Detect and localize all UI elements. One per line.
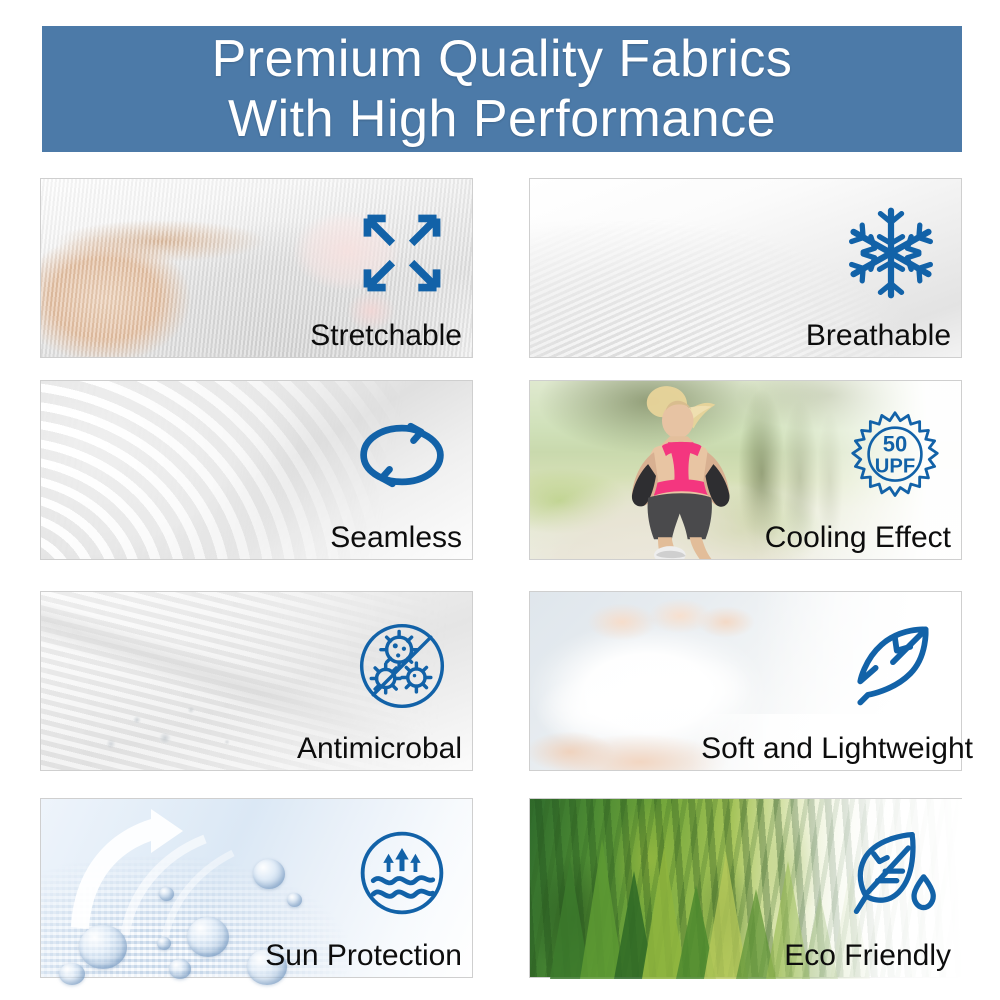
upf-badge-unit: UPF: [875, 456, 915, 478]
feature-card-antimicrobal[interactable]: Antimicrobal: [40, 591, 473, 771]
feature-label-breathable: Breathable: [806, 319, 951, 353]
moisture-wicking-waves-arrows-icon: [354, 825, 450, 921]
infographic-page: Premium Quality Fabrics With High Perfor…: [0, 0, 1000, 1000]
upf-50-sunburst-badge-icon: 50 UPF: [851, 411, 939, 499]
feature-card-stretchable[interactable]: Stretchable: [40, 178, 473, 358]
water-bead: [287, 893, 302, 907]
water-bead: [157, 937, 171, 950]
feature-card-eco-friendly[interactable]: Eco Friendly: [529, 798, 962, 978]
feature-card-seamless[interactable]: Seamless: [40, 380, 473, 560]
feature-grid: Stretchable: [40, 178, 962, 978]
feature-label-cooling-effect: Cooling Effect: [765, 521, 951, 555]
water-bead: [159, 887, 174, 901]
feature-label-seamless: Seamless: [330, 521, 462, 555]
upf-badge-number: 50: [883, 431, 907, 456]
water-bead: [79, 925, 127, 969]
feature-label-sun-protection: Sun Protection: [265, 939, 462, 973]
feature-card-soft-and-lightweight[interactable]: Soft and Lightweight: [529, 591, 962, 771]
water-bead: [253, 859, 285, 889]
feature-card-sun-protection[interactable]: Sun Protection: [40, 798, 473, 978]
feature-label-soft-and-lightweight: Soft and Lightweight: [701, 732, 973, 766]
feature-card-breathable[interactable]: Breathable: [529, 178, 962, 358]
header-banner: Premium Quality Fabrics With High Perfor…: [42, 26, 962, 152]
header-title-line-2: With High Performance: [228, 89, 776, 149]
feature-card-cooling-effect[interactable]: 50 UPF Cooling Effect: [529, 380, 962, 560]
water-bead: [169, 959, 191, 979]
water-bead: [59, 963, 85, 985]
feature-label-eco-friendly: Eco Friendly: [784, 939, 951, 973]
expand-arrows-icon: [354, 205, 450, 301]
water-bead: [187, 917, 229, 957]
header-title-line-1: Premium Quality Fabrics: [212, 29, 793, 89]
no-bacteria-icon: [354, 618, 450, 714]
leaf-with-water-drop-icon: [843, 825, 939, 921]
feather-icon: [843, 618, 939, 714]
snowflake-icon: [843, 205, 939, 301]
feature-label-antimicrobal: Antimicrobal: [297, 732, 462, 766]
circular-loop-arrows-icon: [354, 407, 450, 503]
feature-label-stretchable: Stretchable: [310, 319, 462, 353]
